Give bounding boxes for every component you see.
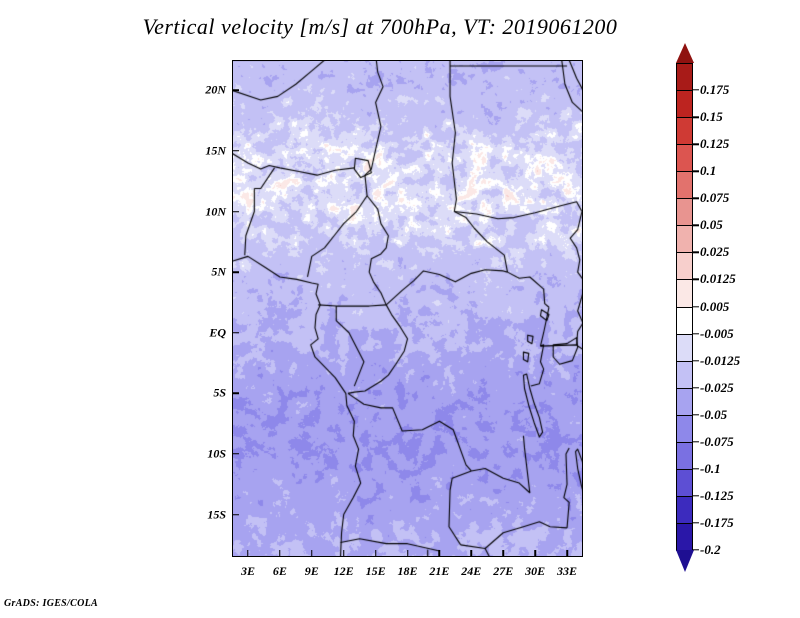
x-tick-label: 3E xyxy=(241,564,255,579)
x-tick-label: 9E xyxy=(305,564,319,579)
x-tick-label: 21E xyxy=(429,564,449,579)
colorbar-band xyxy=(676,496,693,524)
colorbar-tick-mark xyxy=(693,387,699,388)
colorbar-tick-mark xyxy=(693,468,699,469)
colorbar-tick-mark xyxy=(693,360,699,361)
colorbar-label: -0.005 xyxy=(700,326,734,342)
x-tick-mark xyxy=(471,550,473,557)
x-tick-label: 18E xyxy=(397,564,417,579)
colorbar-label: -0.1 xyxy=(700,461,721,477)
y-tick-mark xyxy=(232,90,239,92)
colorbar-tick-mark xyxy=(693,414,699,415)
y-tick-mark xyxy=(232,453,239,455)
colorbar-band xyxy=(676,63,693,91)
colorbar-label: 0.005 xyxy=(700,299,729,315)
x-tick-mark xyxy=(247,550,249,557)
colorbar-label: -0.025 xyxy=(700,380,734,396)
colorbar-tick-mark xyxy=(693,252,699,253)
y-tick-mark xyxy=(232,271,239,273)
colorbar-tick-mark xyxy=(693,495,699,496)
map-plot-area: 20N15N10N5NEQ5S10S15S 3E6E9E12E15E18E21E… xyxy=(232,60,583,557)
y-tick-mark xyxy=(232,514,239,516)
x-tick-mark xyxy=(566,550,568,557)
colorbar-tick-mark xyxy=(693,549,699,550)
y-tick-label: 20N xyxy=(205,83,226,98)
colorbar-label: 0.0125 xyxy=(700,271,736,287)
y-tick-label: 5N xyxy=(211,265,226,280)
x-tick-mark xyxy=(311,550,313,557)
y-tick-label: 15S xyxy=(207,507,226,522)
y-tick-mark xyxy=(232,211,239,213)
vertical-velocity-heatmap xyxy=(232,60,583,557)
colorbar-band xyxy=(676,523,693,551)
colorbar-label: 0.075 xyxy=(700,190,729,206)
colorbar-tick-mark xyxy=(693,171,699,172)
x-tick-mark xyxy=(375,550,377,557)
colorbar-band xyxy=(676,442,693,470)
chart-title: Vertical velocity [m/s] at 700hPa, VT: 2… xyxy=(0,14,760,40)
x-tick-label: 6E xyxy=(273,564,287,579)
colorbar-tick-mark xyxy=(693,198,699,199)
x-tick-mark xyxy=(534,550,536,557)
x-tick-label: 24E xyxy=(461,564,481,579)
colorbar-arrow-top xyxy=(676,43,694,63)
colorbar-label: -0.0125 xyxy=(700,353,740,369)
x-tick-label: 33E xyxy=(557,564,577,579)
y-tick-mark xyxy=(232,150,239,152)
colorbar-label: 0.125 xyxy=(700,136,729,152)
colorbar-band xyxy=(676,469,693,497)
colorbar-band xyxy=(676,252,693,280)
colorbar-band xyxy=(676,415,693,443)
colorbar-label: -0.125 xyxy=(700,488,734,504)
y-tick-label: EQ xyxy=(209,325,226,340)
y-tick-mark xyxy=(232,332,239,334)
colorbar-label: 0.1 xyxy=(700,163,716,179)
credit-text: GrADS: IGES/COLA xyxy=(4,598,98,609)
colorbar-band xyxy=(676,388,693,416)
colorbar-band xyxy=(676,144,693,172)
x-tick-mark xyxy=(279,550,281,557)
colorbar-band xyxy=(676,361,693,389)
colorbar-tick-mark xyxy=(693,225,699,226)
colorbar-tick-mark xyxy=(693,89,699,90)
y-tick-label: 10N xyxy=(205,204,226,219)
colorbar-label: 0.175 xyxy=(700,82,729,98)
colorbar-tick-mark xyxy=(693,522,699,523)
colorbar-tick-mark xyxy=(693,441,699,442)
x-tick-label: 15E xyxy=(366,564,386,579)
colorbar-band xyxy=(676,171,693,199)
colorbar-label: -0.05 xyxy=(700,407,727,423)
x-tick-mark xyxy=(439,550,441,557)
y-tick-label: 15N xyxy=(205,143,226,158)
colorbar-label: -0.2 xyxy=(700,542,721,558)
colorbar-band xyxy=(676,225,693,253)
y-tick-label: 10S xyxy=(207,446,226,461)
x-tick-label: 30E xyxy=(525,564,545,579)
colorbar-band xyxy=(676,307,693,335)
colorbar-band xyxy=(676,279,693,307)
colorbar-label: 0.025 xyxy=(700,244,729,260)
colorbar-band xyxy=(676,90,693,118)
y-tick-mark xyxy=(232,393,239,395)
colorbar-band xyxy=(676,117,693,145)
colorbar-label: -0.175 xyxy=(700,515,734,531)
x-tick-mark xyxy=(407,550,409,557)
colorbar-label: 0.05 xyxy=(700,217,723,233)
colorbar-label: -0.075 xyxy=(700,434,734,450)
colorbar-tick-mark xyxy=(693,333,699,334)
y-tick-label: 5S xyxy=(213,386,226,401)
x-tick-label: 27E xyxy=(493,564,513,579)
colorbar: 0.1750.150.1250.10.0750.050.0250.01250.0… xyxy=(676,63,693,550)
colorbar-tick-mark xyxy=(693,116,699,117)
x-tick-label: 12E xyxy=(334,564,354,579)
colorbar-band xyxy=(676,334,693,362)
colorbar-tick-mark xyxy=(693,279,699,280)
colorbar-arrow-bottom xyxy=(676,550,694,572)
colorbar-label: 0.15 xyxy=(700,109,723,125)
colorbar-tick-mark xyxy=(693,143,699,144)
x-tick-mark xyxy=(343,550,345,557)
x-tick-mark xyxy=(502,550,504,557)
colorbar-band xyxy=(676,198,693,226)
colorbar-tick-mark xyxy=(693,306,699,307)
